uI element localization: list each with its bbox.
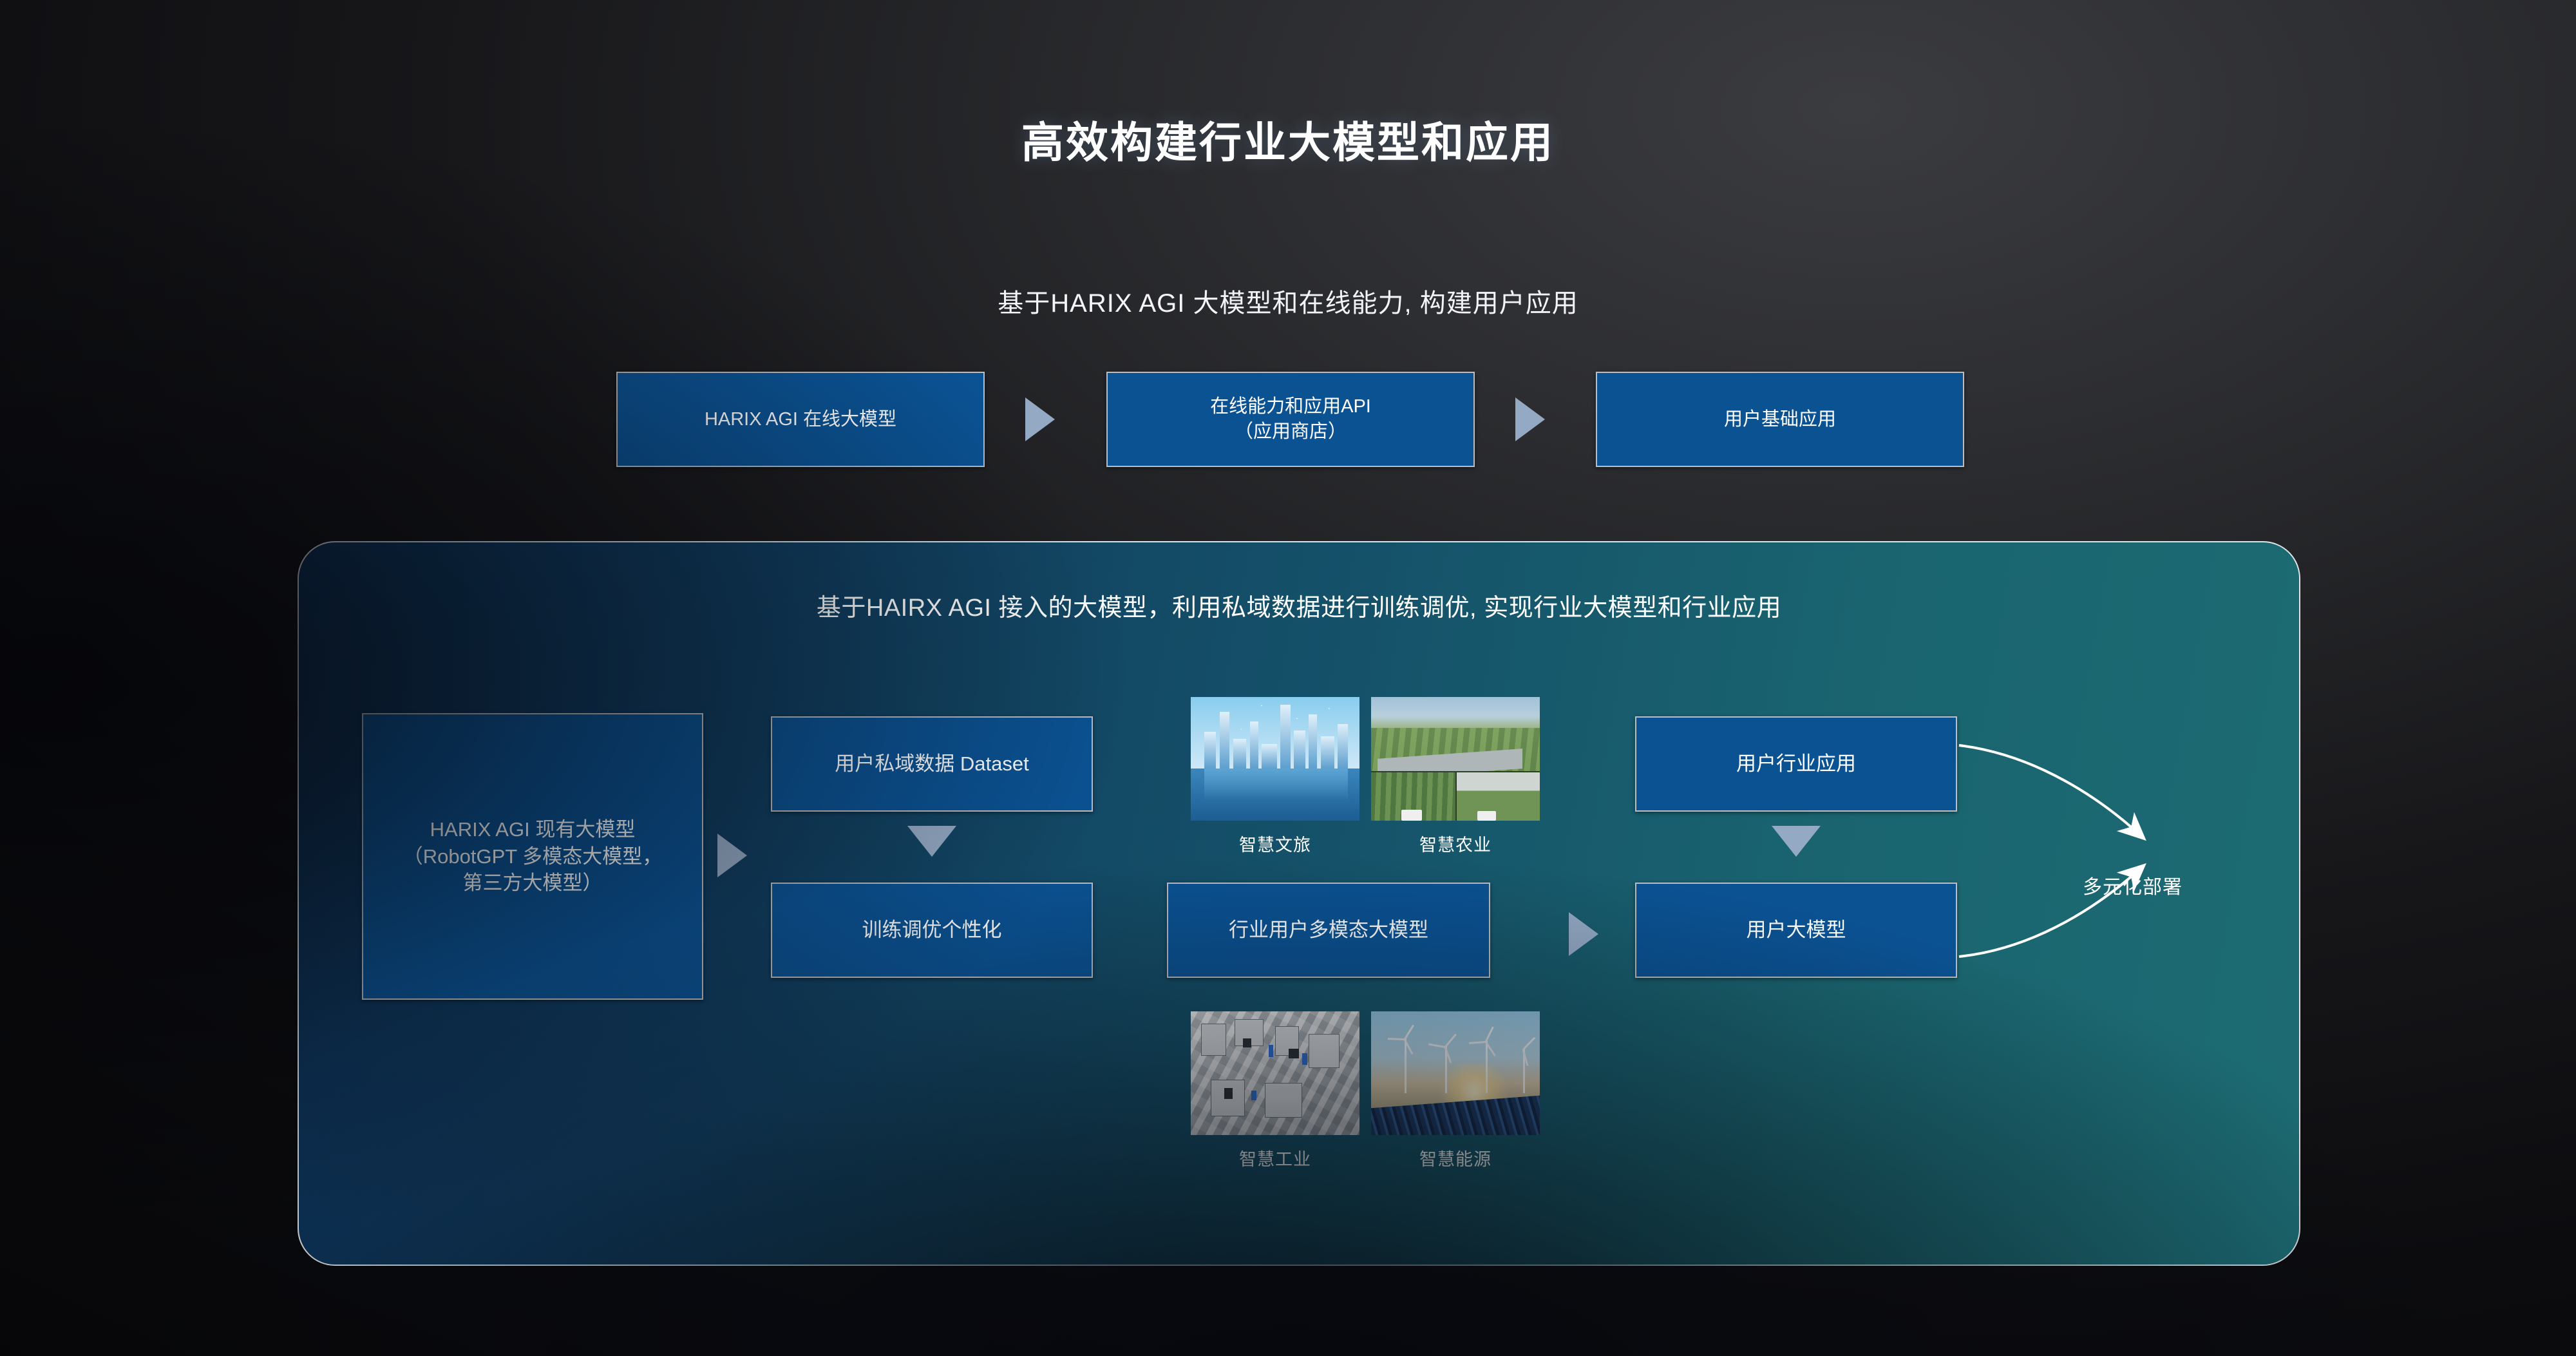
source-model-line2: （RobotGPT 多模态大模型， [372,843,693,870]
industry-model-label: 行业用户多模态大模型 [1177,917,1480,944]
top-flow-step-api-store[interactable]: 在线能力和应用API （应用商店） [1106,372,1475,467]
triangle-right-icon-source-to-data [717,834,747,877]
thumbnail-caption-smart-agriculture: 智慧农业 [1371,831,1540,856]
top-flow-step-online-model[interactable]: HARIX AGI 在线大模型 [616,372,985,467]
page-title: 高效构建行业大模型和应用 [0,108,2576,170]
source-model-line3: 第三方大模型） [372,870,693,897]
top-flow-step-api-store-label-line2: （应用商店） [1117,419,1464,444]
top-flow-step-user-base-app-label: 用户基础应用 [1606,407,1954,432]
panel-title: 基于HAIRX AGI 接入的大模型，利用私域数据进行训练调优, 实现行业大模型… [299,587,2299,623]
user-model-label: 用户大模型 [1645,917,1947,944]
triangle-right-icon-industry-to-output [1569,912,1598,956]
top-flow-step-api-store-label-line1: 在线能力和应用API [1117,394,1464,419]
source-model-box[interactable]: HARIX AGI 现有大模型 （RobotGPT 多模态大模型， 第三方大模型… [362,713,703,1000]
top-flow-step-user-base-app[interactable]: 用户基础应用 [1596,372,1964,467]
page-subtitle: 基于HARIX AGI 大模型和在线能力, 构建用户应用 [0,282,2576,320]
greenhouse-robots-icon [1371,697,1540,821]
triangle-right-icon-top-1 [1025,397,1055,441]
deployment-label: 多元化部署 [2083,871,2183,899]
triangle-down-icon-app-to-model [1772,826,1821,857]
dataset-label: 用户私域数据 Dataset [781,750,1083,778]
factory-floor-icon [1191,1011,1359,1135]
slide-canvas: 高效构建行业大模型和应用 基于HARIX AGI 大模型和在线能力, 构建用户应… [0,0,2576,1356]
thumbnail-smart-tourism [1191,697,1359,821]
top-flow-step-online-model-label: HARIX AGI 在线大模型 [627,407,974,432]
user-industry-app-box[interactable]: 用户行业应用 [1635,716,1957,812]
dataset-box[interactable]: 用户私域数据 Dataset [771,716,1093,812]
thumbnail-smart-energy [1371,1011,1540,1135]
user-industry-app-label: 用户行业应用 [1645,750,1947,778]
triangle-right-icon-top-2 [1515,397,1545,441]
thumbnail-caption-smart-energy: 智慧能源 [1371,1145,1540,1170]
industry-model-box[interactable]: 行业用户多模态大模型 [1167,883,1490,978]
thumbnail-caption-smart-industry: 智慧工业 [1191,1145,1359,1170]
user-model-box[interactable]: 用户大模型 [1635,883,1957,978]
thumbnail-smart-industry [1191,1011,1359,1135]
source-model-line1: HARIX AGI 现有大模型 [372,816,693,843]
wind-solar-icon [1371,1011,1540,1135]
thumbnail-caption-smart-tourism: 智慧文旅 [1191,831,1359,856]
curved-arrow-icon-app-to-deploy [1959,745,2141,836]
triangle-down-icon-dataset-to-tuning [907,826,956,857]
tuning-label: 训练调优个性化 [781,917,1083,944]
thumbnail-smart-agriculture [1371,697,1540,821]
industry-model-panel: 基于HAIRX AGI 接入的大模型，利用私域数据进行训练调优, 实现行业大模型… [298,541,2300,1266]
tuning-box[interactable]: 训练调优个性化 [771,883,1093,978]
smart-city-network-icon [1191,697,1359,821]
